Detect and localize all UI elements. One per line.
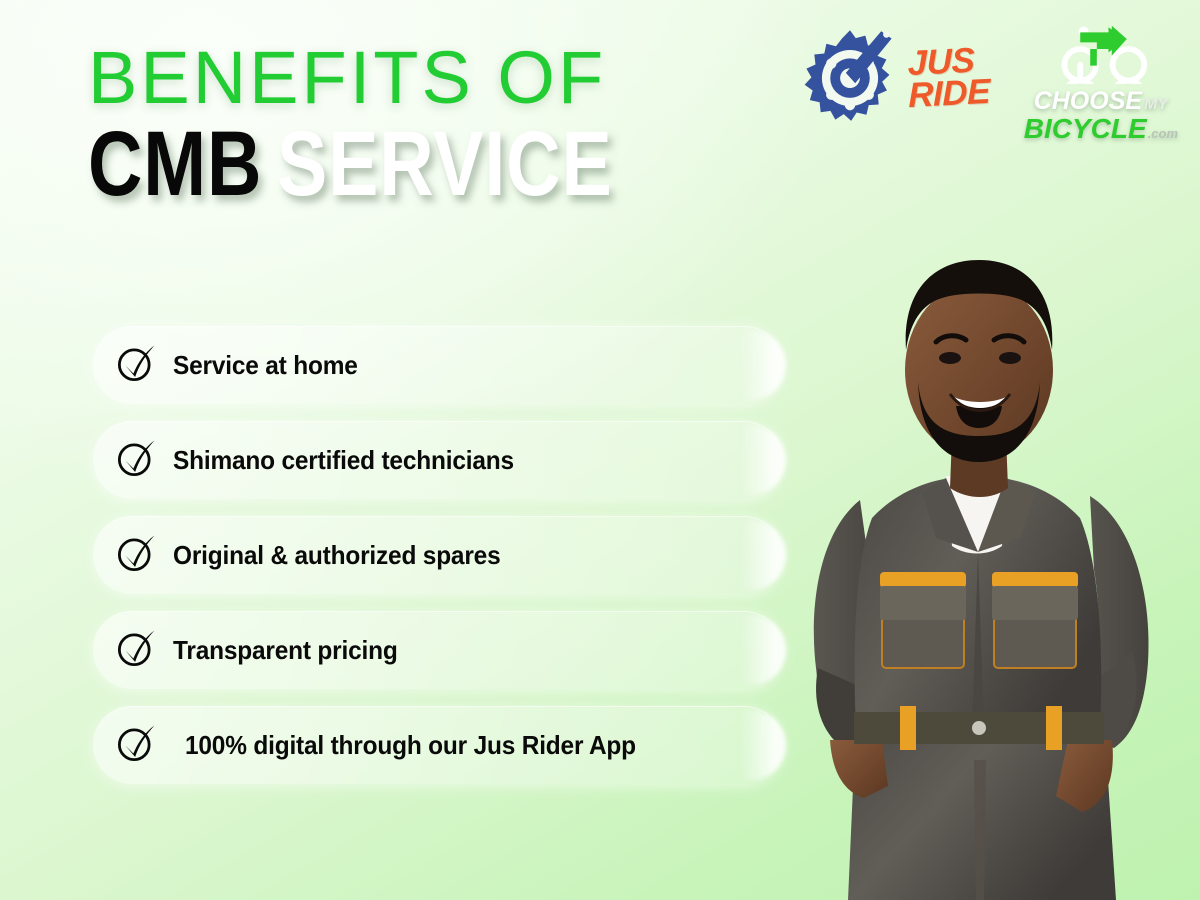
logo-cmb-word-my: MY — [1144, 96, 1168, 113]
logo-cmb-choose-my: CHOOSEMY — [1034, 89, 1168, 114]
logo-jusride[interactable]: JUS RIDE — [798, 24, 990, 133]
check-circle-icon — [115, 342, 157, 389]
logo-cmb-bicycle-dotcom: BICYCLE.com — [1024, 115, 1178, 143]
headline-word-service: SERVICE — [277, 113, 613, 215]
technician-photo — [760, 200, 1200, 900]
headline-line-cmb-service: CMBSERVICE — [88, 119, 613, 209]
logo-cmb-word-choose: CHOOSE — [1034, 87, 1142, 115]
logo-jusride-text: JUS RIDE — [908, 44, 991, 113]
logo-cmb-word-bicycle: BICYCLE — [1024, 113, 1147, 144]
benefit-label: Transparent pricing — [173, 635, 398, 666]
logo-cmb-word-domain: .com — [1148, 126, 1178, 141]
bicycle-arrow-icon — [1047, 24, 1155, 89]
check-circle-icon — [115, 722, 157, 769]
check-circle-icon — [115, 532, 157, 579]
benefit-pill[interactable]: Original & authorized spares — [93, 516, 783, 594]
poster-canvas: BENEFITS OF CMBSERVICE — [0, 0, 1200, 900]
chainring-crank-icon — [798, 24, 902, 133]
benefit-pill[interactable]: Service at home — [93, 326, 783, 404]
benefit-label: Shimano certified technicians — [173, 445, 514, 476]
check-circle-icon — [115, 437, 157, 484]
logo-row: JUS RIDE CHOOSEMY — [798, 24, 1178, 143]
benefit-label: Service at home — [173, 350, 358, 381]
benefit-pill[interactable]: 100% digital through our Jus Rider App — [93, 706, 783, 784]
headline-line-benefits-of: BENEFITS OF — [88, 42, 728, 113]
benefits-list: Service at homeShimano certified technic… — [93, 326, 783, 801]
check-circle-icon — [115, 627, 157, 674]
logo-choosemybicycle[interactable]: CHOOSEMY BICYCLE.com — [1024, 24, 1178, 143]
benefit-label: Original & authorized spares — [173, 540, 500, 571]
headline-block: BENEFITS OF CMBSERVICE — [88, 42, 728, 209]
logo-jusride-line2: RIDE — [908, 72, 990, 115]
headline-word-cmb: CMB — [88, 113, 262, 215]
benefit-pill[interactable]: Shimano certified technicians — [93, 421, 783, 499]
benefit-pill[interactable]: Transparent pricing — [93, 611, 783, 689]
benefit-label: 100% digital through our Jus Rider App — [185, 730, 636, 761]
